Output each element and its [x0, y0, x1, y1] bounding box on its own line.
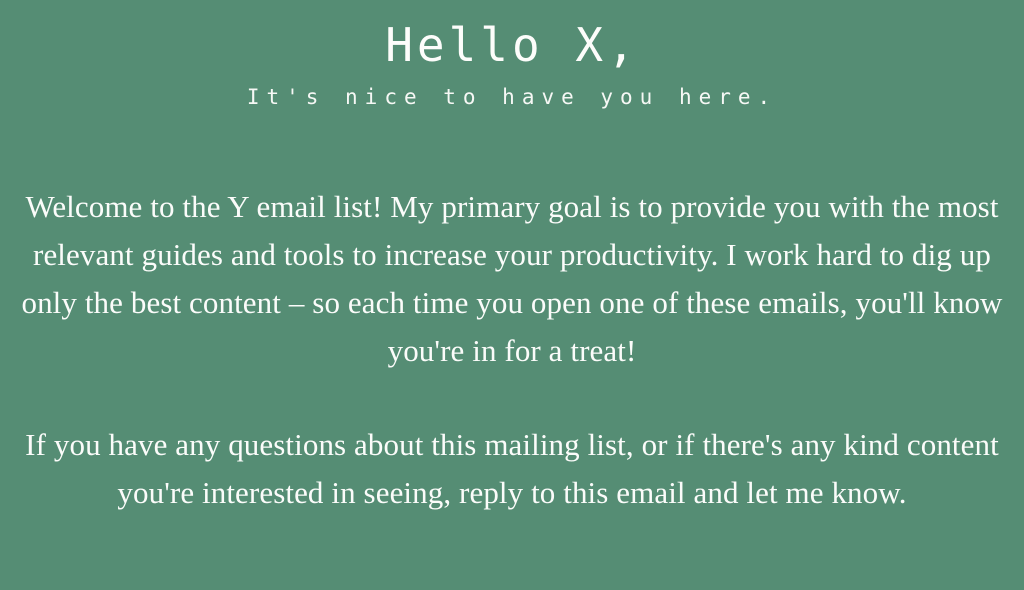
- body-paragraph-welcome: Welcome to the Y email list! My primary …: [12, 183, 1012, 375]
- email-body-canvas: Hello X, It's nice to have you here. Wel…: [0, 0, 1024, 590]
- email-body-content: Welcome to the Y email list! My primary …: [12, 111, 1012, 517]
- greeting-title: Hello X,: [0, 14, 1024, 76]
- paragraph-spacer: [12, 375, 1012, 421]
- body-paragraph-questions: If you have any questions about this mai…: [12, 421, 1012, 517]
- greeting-subtitle: It's nice to have you here.: [0, 76, 1024, 111]
- email-header: Hello X, It's nice to have you here.: [0, 0, 1024, 111]
